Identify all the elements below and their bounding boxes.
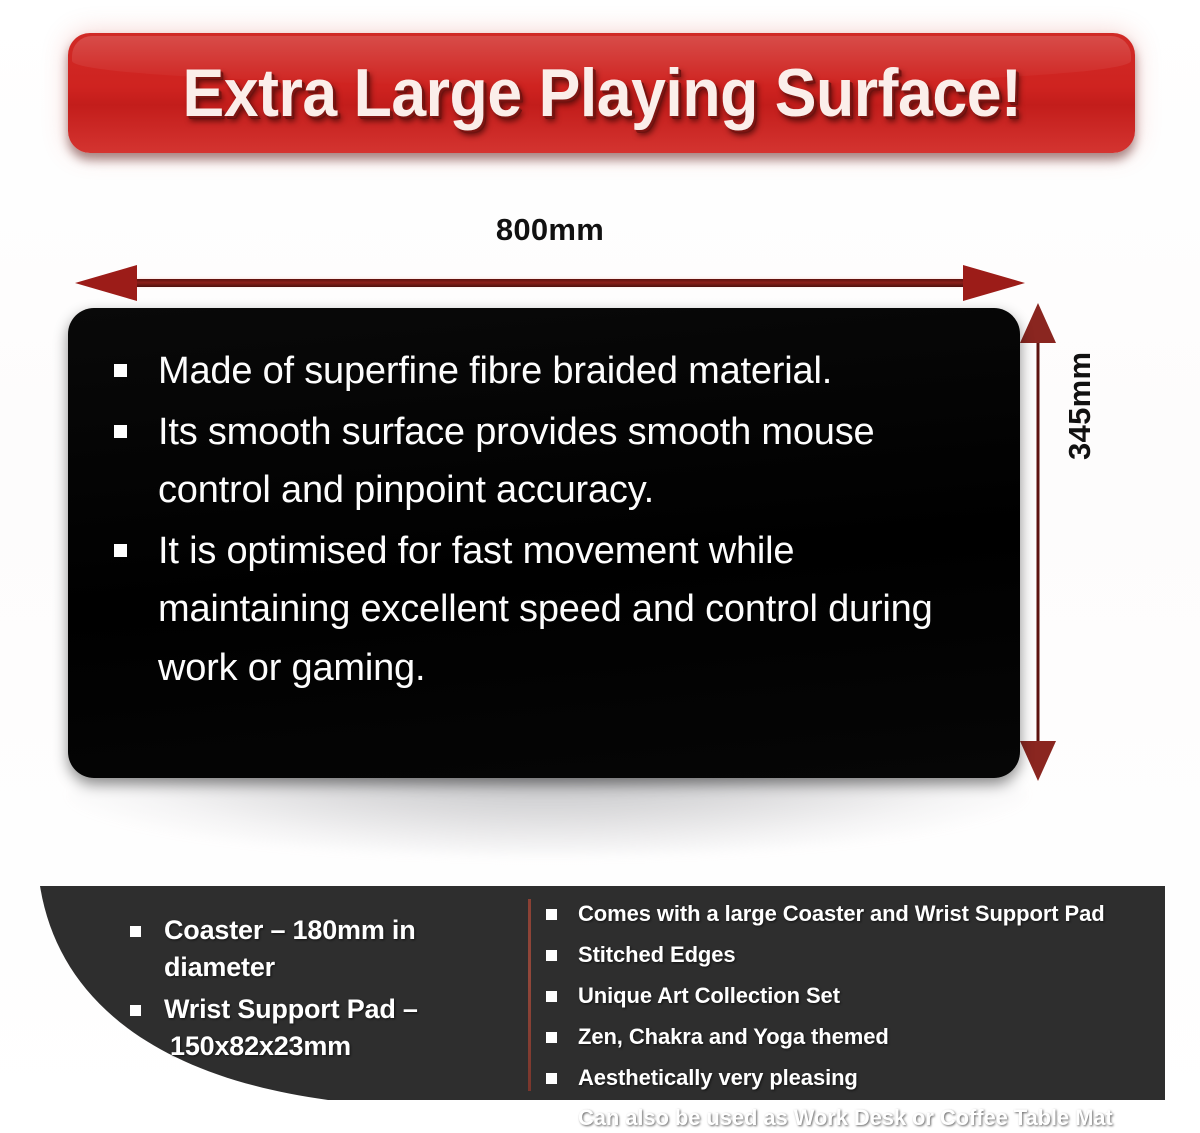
bullet-square-icon <box>546 1073 557 1084</box>
highlight-item: Unique Art Collection Set <box>538 980 1163 1012</box>
infographic-canvas: Extra Large Playing Surface! 800mm 345mm <box>0 0 1200 1133</box>
highlight-item-text: Comes with a large Coaster and Wrist Sup… <box>578 901 1105 926</box>
bullet-square-icon <box>546 1113 557 1124</box>
bullet-square-icon <box>114 364 127 377</box>
accessory-item-text-wrap: 150x82x23mm <box>164 1028 522 1065</box>
highlight-item-text: Unique Art Collection Set <box>578 983 840 1008</box>
mat-feature-text: Its smooth surface provides smooth mouse… <box>158 411 874 512</box>
accessory-item-text: Wrist Support Pad – <box>164 994 418 1024</box>
feature-highlights-list: Comes with a large Coaster and Wrist Sup… <box>538 898 1163 1133</box>
mat-feature-item: Its smooth surface provides smooth mouse… <box>108 403 984 520</box>
highlight-item: Aesthetically very pleasing <box>538 1062 1163 1094</box>
mat-feature-item: Made of superfine fibre braided material… <box>108 342 984 401</box>
mat-feature-text: Made of superfine fibre braided material… <box>158 350 832 392</box>
highlight-item-text: Aesthetically very pleasing <box>578 1065 858 1090</box>
highlight-item: Zen, Chakra and Yoga themed <box>538 1021 1163 1053</box>
accessory-item-coaster: Coaster – 180mm in diameter <box>122 912 522 987</box>
highlight-item: Comes with a large Coaster and Wrist Sup… <box>538 898 1163 930</box>
mat-feature-text: It is optimised for fast movement while … <box>158 530 933 689</box>
bullet-square-icon <box>546 1032 557 1043</box>
bullet-square-icon <box>114 425 127 438</box>
specs-right-column: Comes with a large Coaster and Wrist Sup… <box>538 898 1163 1133</box>
headline-banner: Extra Large Playing Surface! <box>68 33 1135 153</box>
specs-left-column: Coaster – 180mm in diameter Wrist Suppor… <box>122 912 522 1069</box>
headline-text: Extra Large Playing Surface! <box>182 59 1021 127</box>
bullet-square-icon <box>546 909 557 920</box>
bullet-square-icon <box>130 1005 141 1016</box>
width-dimension-label: 800mm <box>0 212 1100 248</box>
height-dimension-arrow-icon <box>1018 303 1058 781</box>
bullet-square-icon <box>546 991 557 1002</box>
accessory-dimension-list: Coaster – 180mm in diameter Wrist Suppor… <box>122 912 522 1065</box>
bullet-square-icon <box>130 926 141 937</box>
highlight-item-text: Zen, Chakra and Yoga themed <box>578 1024 889 1049</box>
highlight-item: Stitched Edges <box>538 939 1163 971</box>
accessory-item-text: Coaster – 180mm in diameter <box>164 915 416 982</box>
highlight-item-text: Can also be used as Work Desk or Coffee … <box>578 1105 1113 1130</box>
highlight-item: Can also be used as Work Desk or Coffee … <box>538 1102 1163 1133</box>
specs-column-divider <box>528 899 531 1091</box>
bullet-square-icon <box>114 544 127 557</box>
bullet-square-icon <box>546 950 557 961</box>
height-dimension-label: 345mm <box>1062 352 1098 460</box>
mouse-mat-product-image: Made of superfine fibre braided material… <box>68 308 1020 778</box>
mat-feature-item: It is optimised for fast movement while … <box>108 522 984 698</box>
accessory-item-wrist-pad: Wrist Support Pad –150x82x23mm <box>122 991 522 1066</box>
highlight-item-text: Stitched Edges <box>578 942 736 967</box>
mat-feature-list: Made of superfine fibre braided material… <box>68 308 1020 697</box>
width-dimension-arrow-icon <box>75 265 1025 301</box>
